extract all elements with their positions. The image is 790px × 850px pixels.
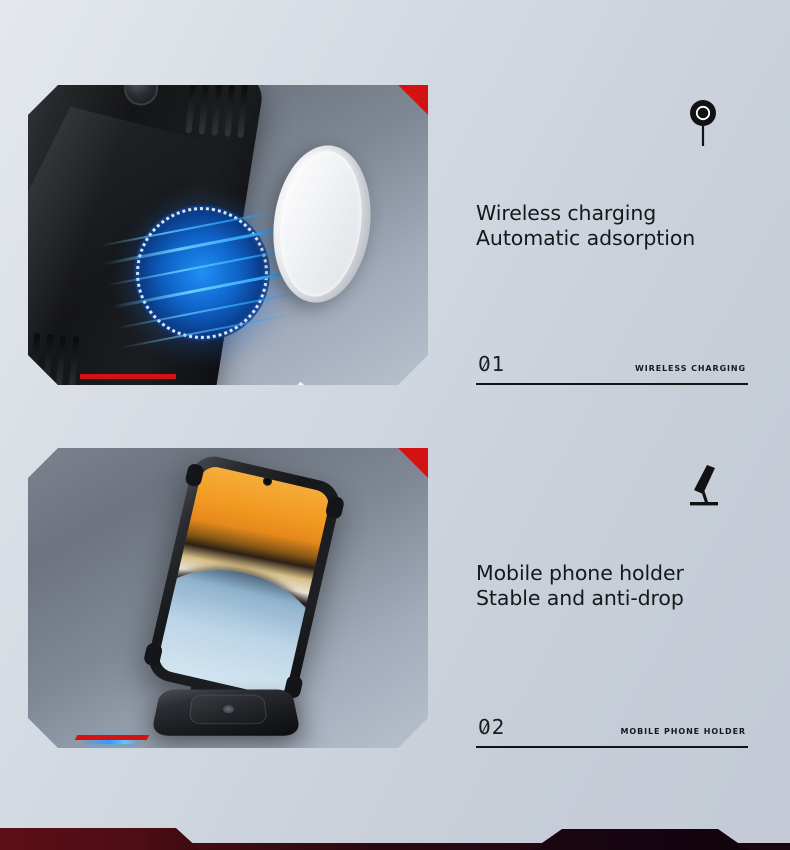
- feature-meta-1: 01 WIRELESS CHARGING: [476, 352, 748, 385]
- feature-tag-1: WIRELESS CHARGING: [635, 364, 746, 373]
- feature-block-phone-holder: Mobile phone holder Stable and anti-drop…: [0, 448, 790, 758]
- headline-line-1: Wireless charging: [476, 201, 695, 226]
- product-photo-1: [28, 85, 428, 385]
- feature-tag-2: MOBILE PHONE HOLDER: [621, 727, 746, 736]
- headline-line-2: Stable and anti-drop: [476, 586, 684, 611]
- footer-accent-left: [0, 828, 200, 850]
- product-image-card-2[interactable]: [28, 448, 428, 748]
- wireless-charging-pad: [189, 695, 268, 724]
- headline-line-2: Automatic adsorption: [476, 226, 695, 251]
- number-rest: 1: [492, 352, 506, 376]
- feature-block-wireless-charging: Wireless charging Automatic adsorption 0…: [0, 85, 790, 395]
- feature-headline-2: Mobile phone holder Stable and anti-drop: [476, 561, 684, 611]
- phone-in-case: [144, 452, 344, 710]
- feature-number-1: 01: [478, 352, 505, 376]
- feature-headline-1: Wireless charging Automatic adsorption: [476, 201, 695, 251]
- phone-holder-illustration: [28, 448, 428, 748]
- footer-banner: [0, 826, 790, 850]
- case-vents-bottom: [28, 330, 79, 385]
- bottom-accent-red: [75, 735, 150, 740]
- bottom-accent-red: [80, 374, 176, 379]
- case-vents-top: [186, 85, 248, 138]
- product-photo-2: [28, 448, 428, 748]
- number-zero: 0: [478, 715, 492, 739]
- phone-screen-wallpaper: [156, 464, 332, 698]
- product-feature-page: Wireless charging Automatic adsorption 0…: [0, 0, 790, 850]
- wireless-charging-icon: [684, 97, 722, 149]
- feature-divider-2: [476, 746, 748, 748]
- feature-info-1: Wireless charging Automatic adsorption 0…: [476, 85, 748, 385]
- feature-divider-1: [476, 383, 748, 385]
- wireless-charging-illustration: [28, 85, 428, 385]
- number-rest: 2: [492, 715, 506, 739]
- camera-lens-icon: [122, 85, 161, 108]
- feature-info-2: Mobile phone holder Stable and anti-drop…: [476, 448, 748, 748]
- product-image-card-1[interactable]: [28, 85, 428, 385]
- phone-holder-icon: [684, 460, 722, 512]
- number-zero: 0: [478, 352, 492, 376]
- feature-meta-2: 02 MOBILE PHONE HOLDER: [476, 715, 748, 748]
- charging-stand-base: [151, 689, 301, 735]
- headline-line-1: Mobile phone holder: [476, 561, 684, 586]
- feature-number-2: 02: [478, 715, 505, 739]
